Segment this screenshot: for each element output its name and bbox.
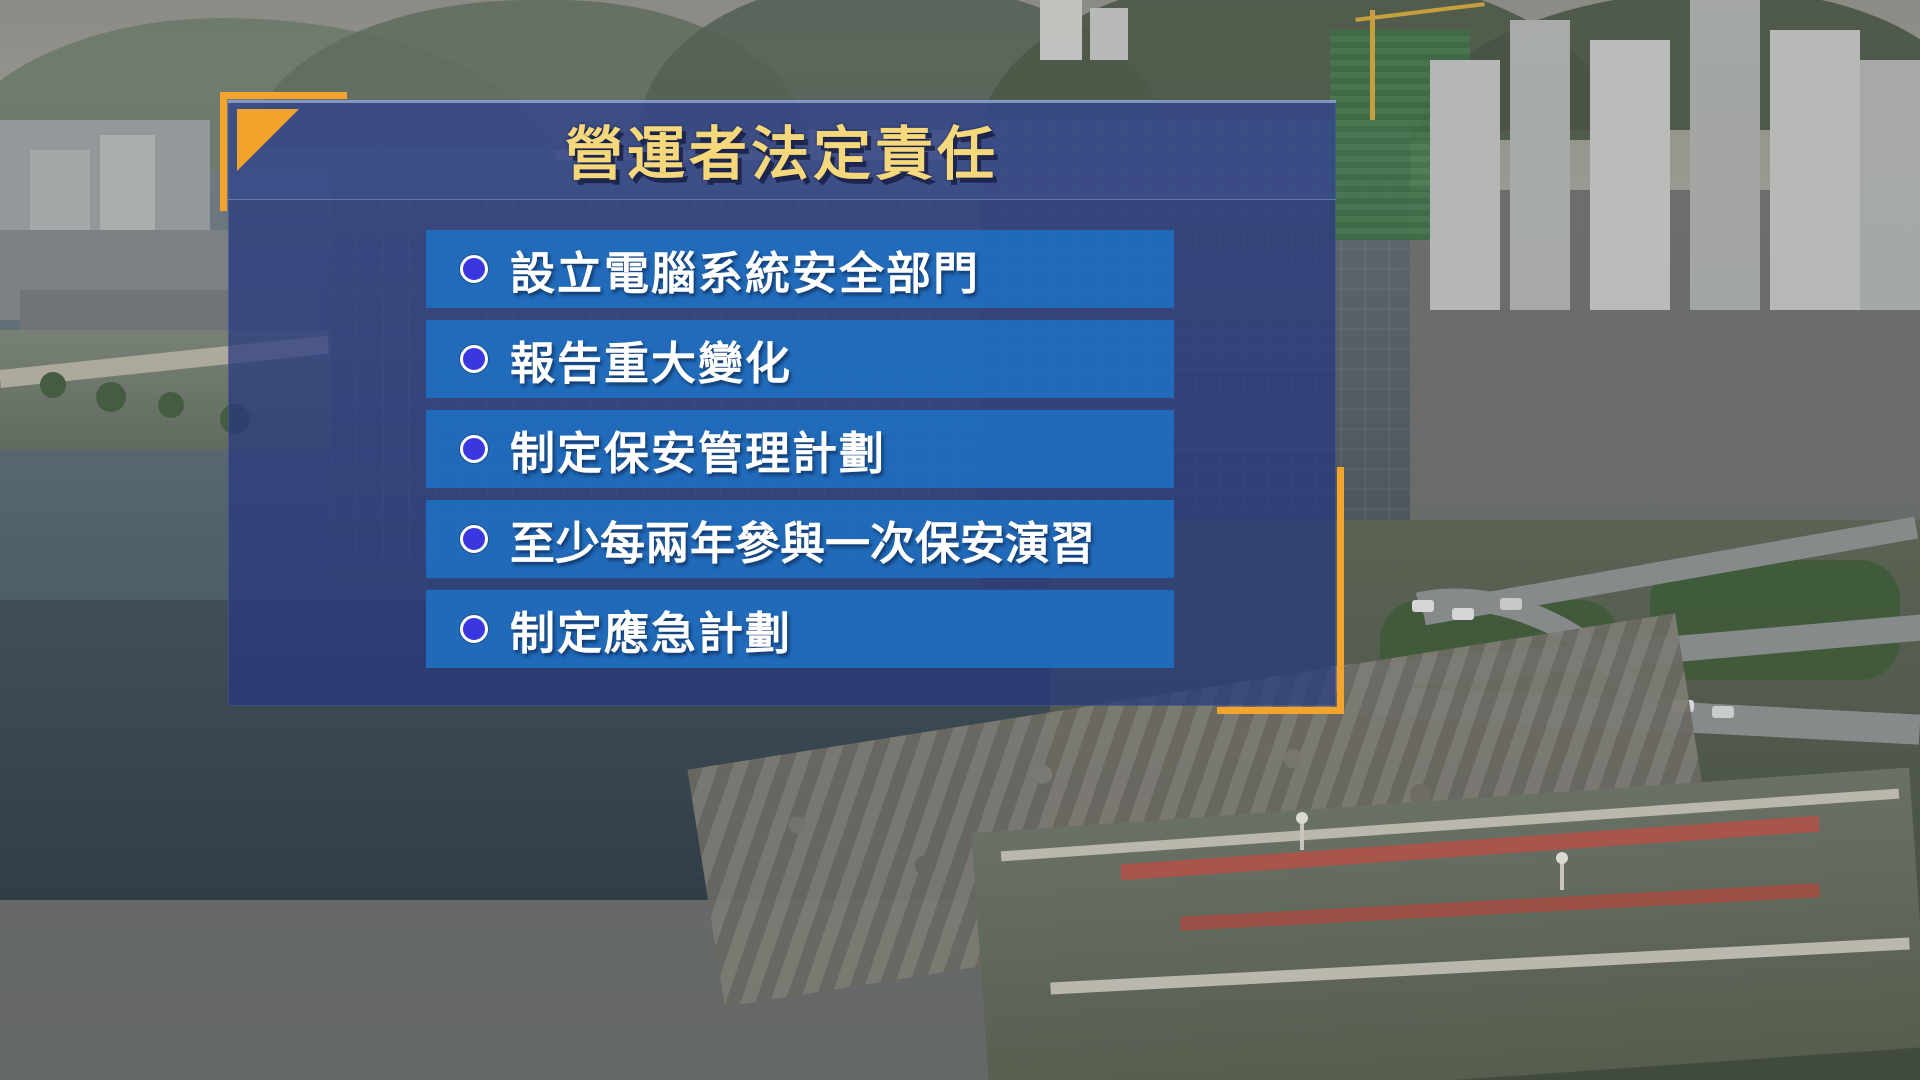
list-item: 報告重大變化 (426, 320, 1174, 398)
bullet-icon (460, 525, 488, 553)
list-item: 設立電腦系統安全部門 (426, 230, 1174, 308)
bullet-icon (460, 615, 488, 643)
bullet-icon (460, 345, 488, 373)
page-title: 營運者法定責任 (228, 102, 1336, 196)
list-item-label: 報告重大變化 (510, 327, 792, 392)
bullet-icon (460, 255, 488, 283)
list-item: 制定保安管理計劃 (426, 410, 1174, 488)
info-panel: 營運者法定責任 設立電腦系統安全部門 報告重大變化 制定保安管理計劃 至少每兩年… (228, 100, 1336, 706)
corner-bracket-bottom-right-icon (1217, 467, 1344, 714)
list-item-label: 至少每兩年參與一次保安演習 (510, 507, 1095, 572)
list-item-label: 制定應急計劃 (510, 597, 792, 662)
list-item: 制定應急計劃 (426, 590, 1174, 668)
bullet-icon (460, 435, 488, 463)
list-item: 至少每兩年參與一次保安演習 (426, 500, 1174, 578)
list-item-label: 設立電腦系統安全部門 (510, 237, 980, 302)
list-item-label: 制定保安管理計劃 (510, 417, 886, 482)
responsibility-list: 設立電腦系統安全部門 報告重大變化 制定保安管理計劃 至少每兩年參與一次保安演習… (426, 230, 1174, 680)
